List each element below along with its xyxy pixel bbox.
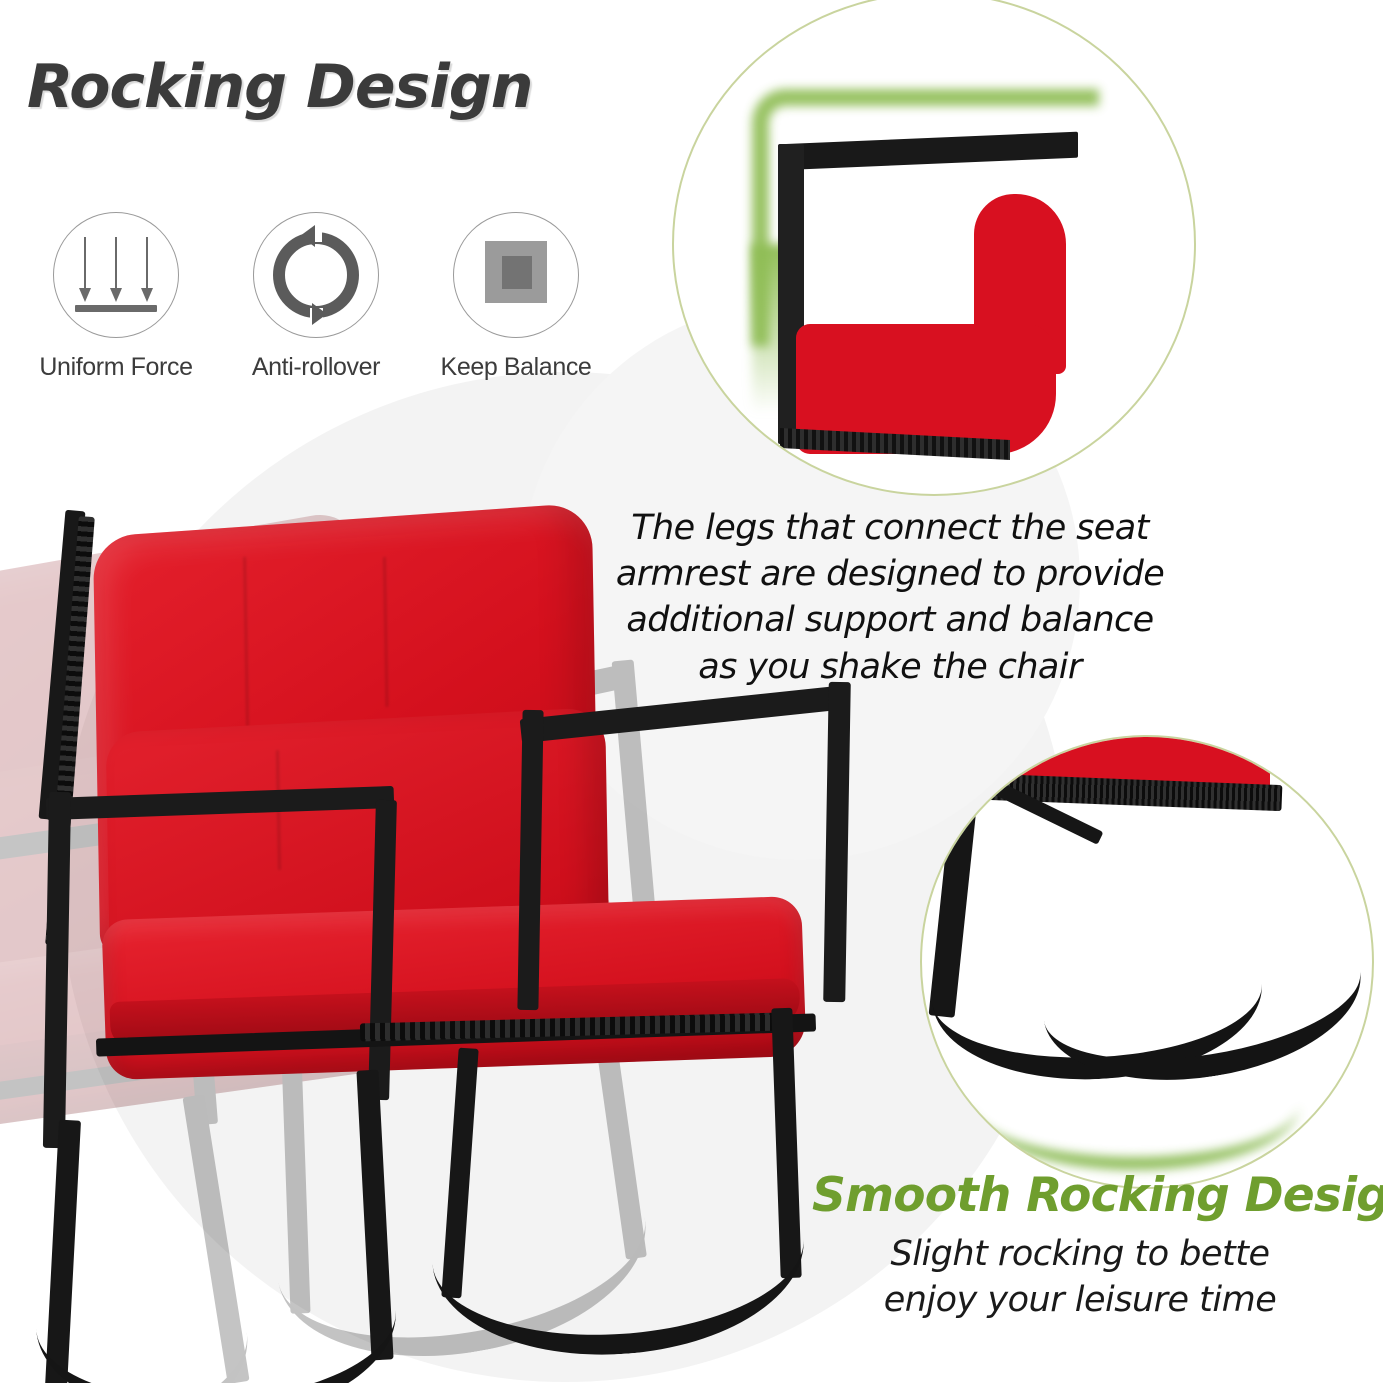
- product-infographic: Rocking Design Uniform Force Anti-rollov…: [0, 0, 1383, 1383]
- circular-rotate-arrows-icon: [253, 212, 379, 338]
- caption-subtitle: Slight rocking to bette enjoy your leisu…: [760, 1232, 1383, 1323]
- smooth-rocking-caption: Smooth Rocking Design Slight rocking to …: [760, 1168, 1383, 1323]
- paragraph-line: armrest are designed to provide: [604, 551, 1176, 597]
- paragraph-line: The legs that connect the seat: [604, 505, 1176, 551]
- armrest-frame-detail-circle: [672, 0, 1196, 496]
- feature-label: Uniform Force: [39, 353, 192, 382]
- feature-label: Anti-rollover: [252, 353, 380, 382]
- paragraph-line: as you shake the chair: [604, 644, 1176, 690]
- caption-subtitle-line: enjoy your leisure time: [760, 1278, 1383, 1324]
- downward-arrows-on-bar-icon: [53, 212, 179, 338]
- rocker-base-detail-circle: [920, 735, 1374, 1189]
- feature-label: Keep Balance: [441, 353, 592, 382]
- caption-title: Smooth Rocking Design: [812, 1168, 1383, 1223]
- feature-uniform-force: Uniform Force: [16, 212, 216, 382]
- chair-rear-armrest-post-right: [823, 682, 851, 1002]
- chair-rocker-runner-rear: [425, 1135, 810, 1366]
- feature-keep-balance: Keep Balance: [416, 212, 616, 382]
- caption-subtitle-line: Slight rocking to bette: [760, 1232, 1383, 1278]
- green-motion-arc: [970, 1037, 1300, 1170]
- page-title: Rocking Design: [27, 52, 532, 122]
- feature-icon-row: Uniform Force Anti-rollover Keep Balance: [16, 212, 616, 382]
- chair-rocker-runner-front: [31, 1211, 401, 1383]
- paragraph-line: additional support and balance: [604, 597, 1176, 643]
- feature-anti-rollover: Anti-rollover: [216, 212, 416, 382]
- chair-front-armrest-post-left: [43, 792, 71, 1148]
- description-paragraph: The legs that connect the seat armrest a…: [604, 505, 1176, 690]
- nested-squares-icon: [453, 212, 579, 338]
